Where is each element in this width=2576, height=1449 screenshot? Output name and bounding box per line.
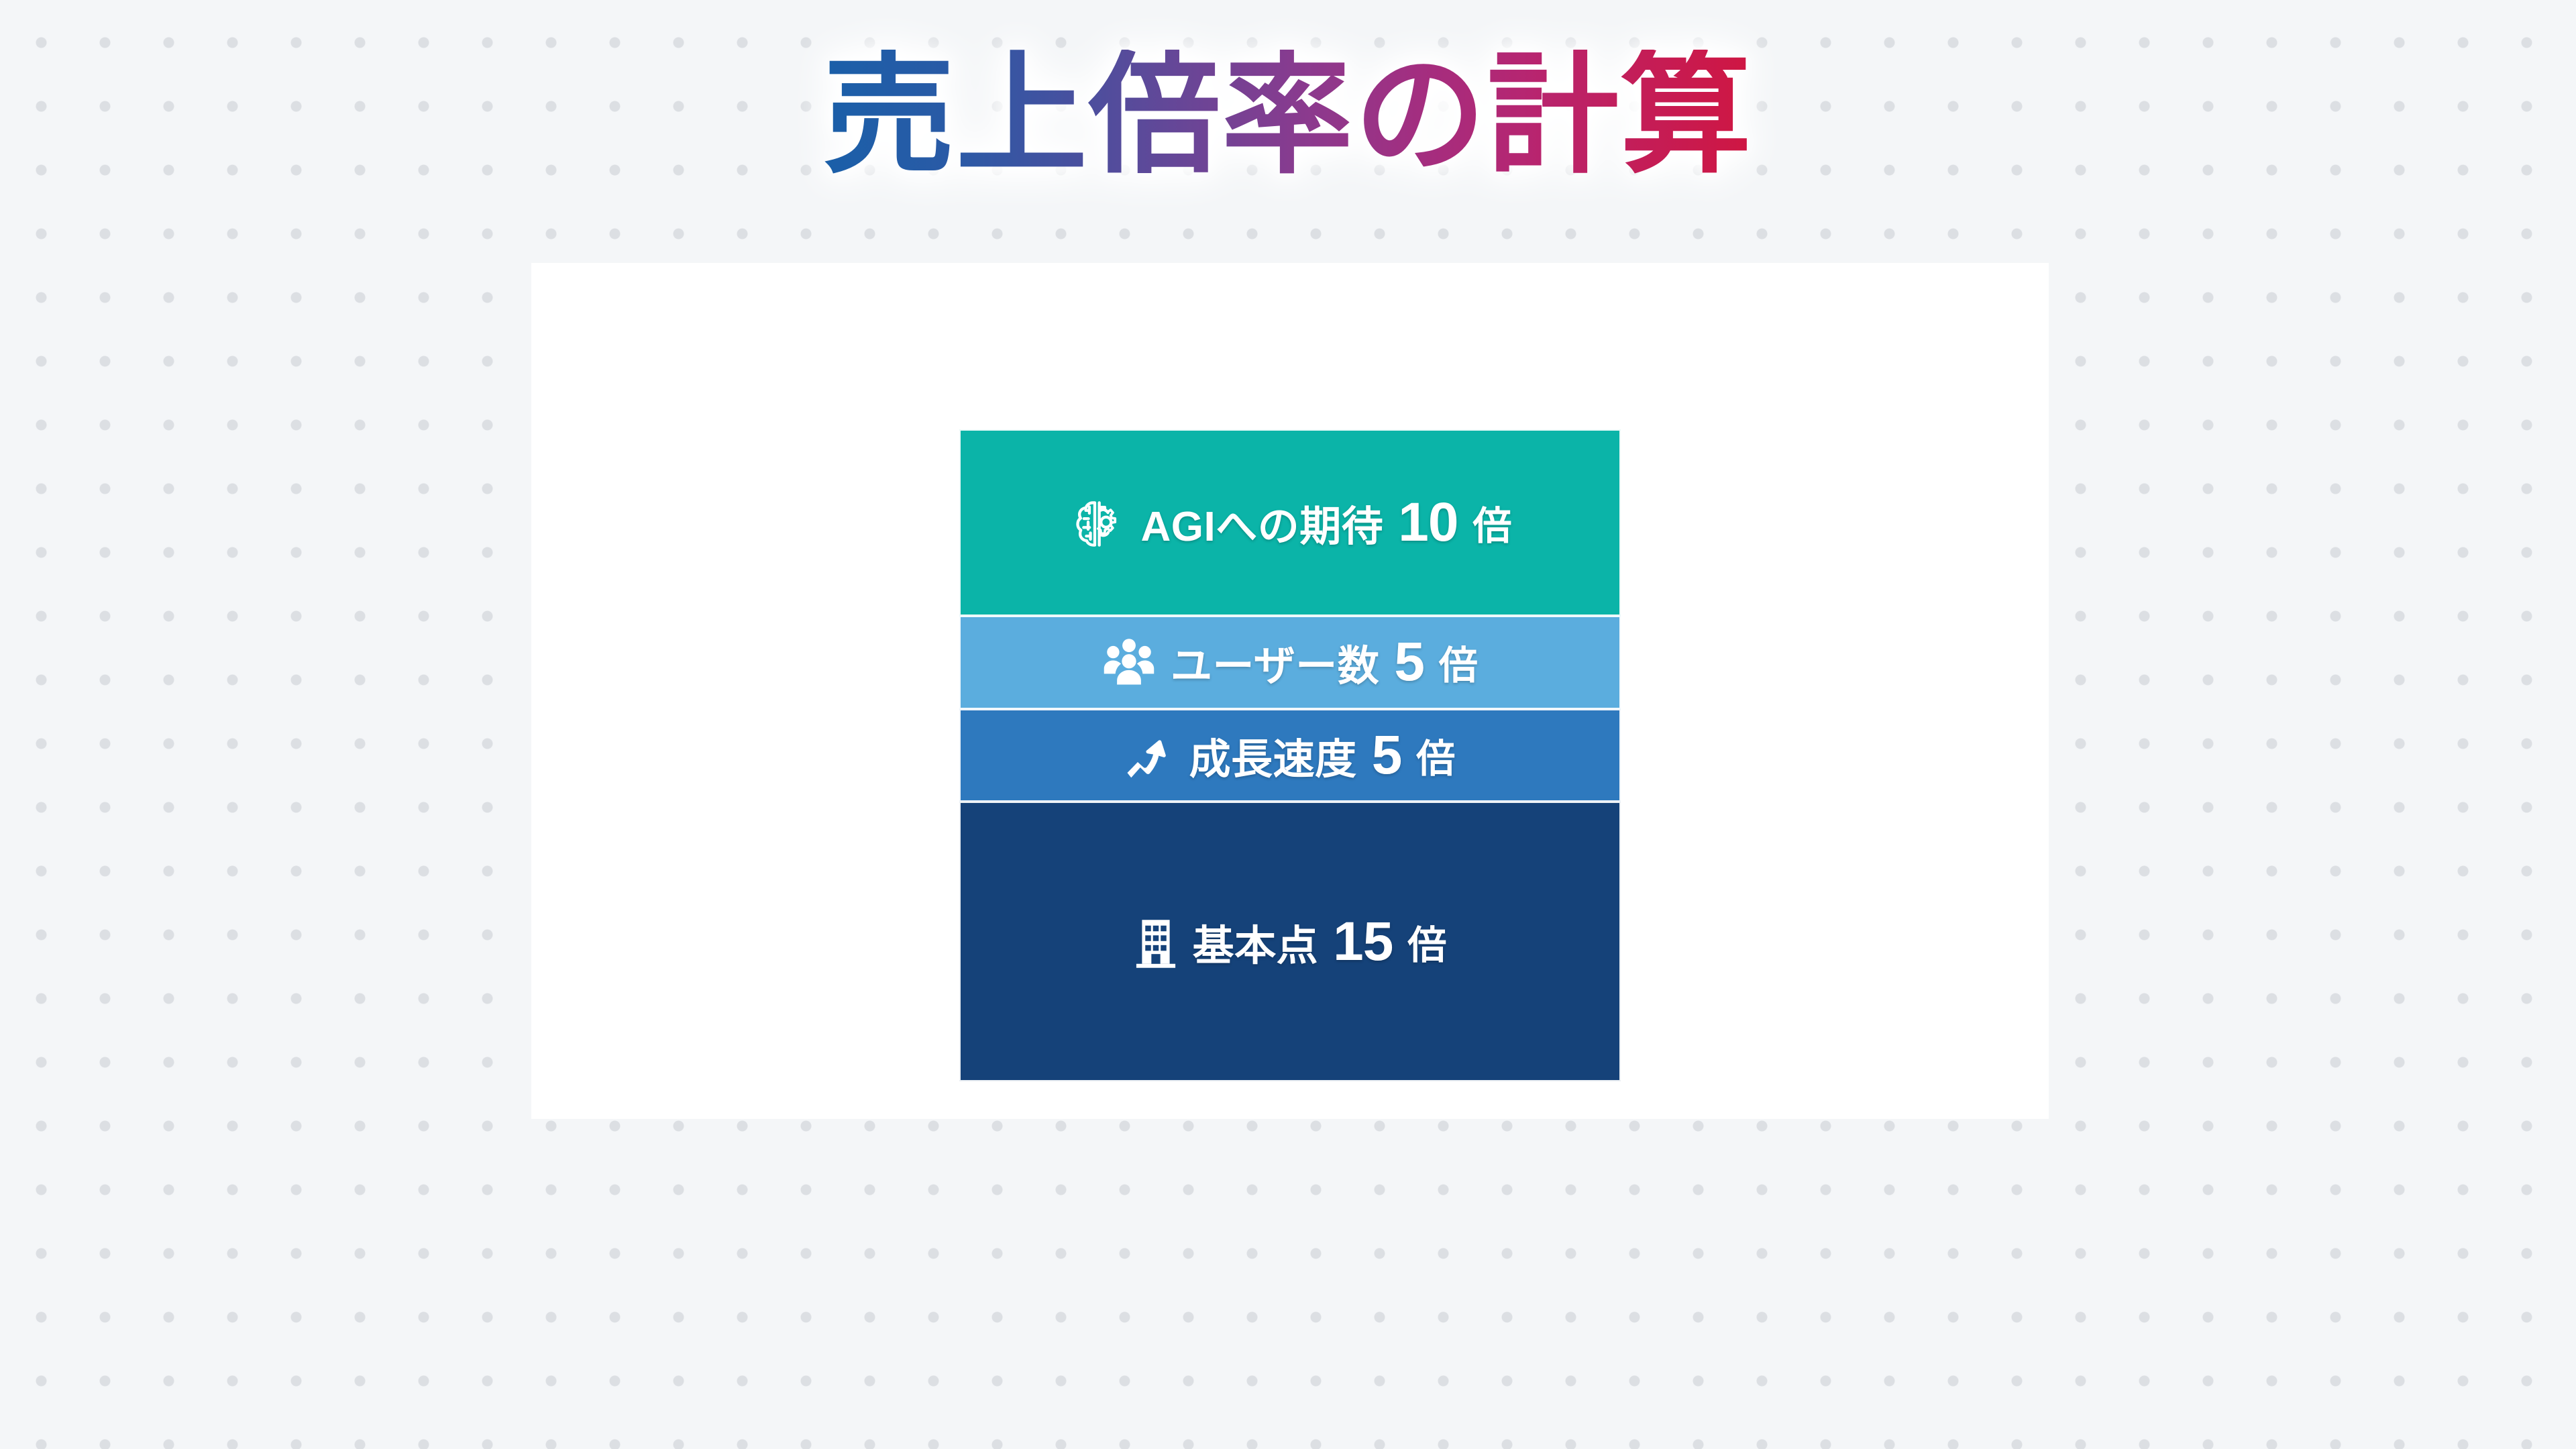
bar-segment-value: 10	[1398, 491, 1458, 554]
figure-card: AGIへの期待 10 倍 ユー	[531, 263, 2049, 1119]
bar-segment-value: 15	[1333, 910, 1393, 973]
bar-segment-unit: 倍	[1472, 494, 1511, 551]
bar-segment-label: ユーザー数	[1171, 632, 1379, 692]
bar-segment-unit: 倍	[1416, 727, 1455, 784]
stacked-bar-chart: AGIへの期待 10 倍 ユー	[959, 429, 1621, 1081]
bar-segment-label: AGIへの期待	[1141, 492, 1384, 553]
bar-segment-label: 基本点	[1193, 912, 1319, 972]
bar-segment-label: 成長速度	[1189, 725, 1357, 786]
bar-segment-unit: 倍	[1439, 634, 1478, 690]
title-bar: 売上倍率の計算	[0, 35, 2576, 196]
bar-segment-value: 5	[1394, 631, 1424, 694]
bar-segment-growth-speed[interactable]: 成長速度 5 倍	[959, 709, 1621, 802]
bar-segment-value: 5	[1372, 724, 1402, 787]
users-icon	[1102, 638, 1156, 686]
bar-segment-user-count[interactable]: ユーザー数 5 倍	[959, 616, 1621, 709]
trend-up-arrow-icon	[1125, 731, 1175, 780]
bar-segment-unit: 倍	[1407, 914, 1446, 970]
page-title: 売上倍率の計算	[823, 50, 1753, 181]
building-icon	[1134, 915, 1178, 969]
bar-segment-base-score[interactable]: 基本点 15 倍	[959, 802, 1621, 1081]
brain-gear-icon	[1069, 494, 1126, 551]
bar-segment-agi-expectation[interactable]: AGIへの期待 10 倍	[959, 429, 1621, 616]
